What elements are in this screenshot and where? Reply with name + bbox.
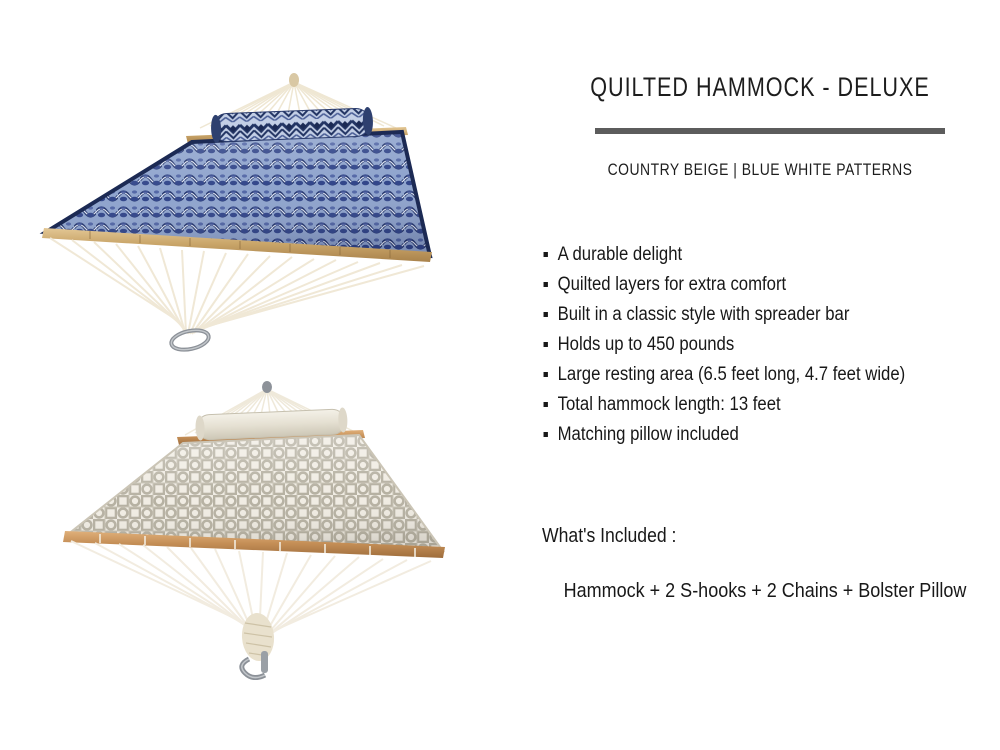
bullet-icon <box>544 402 548 407</box>
blue-hammock-illustration <box>30 60 490 360</box>
feature-text: Holds up to 450 pounds <box>558 334 735 355</box>
feature-text: Built in a classic style with spreader b… <box>558 304 850 325</box>
top-rope-knot <box>289 73 299 87</box>
beige-hammock-illustration <box>45 375 500 680</box>
list-item: Total hammock length: 13 feet <box>540 390 954 420</box>
title-divider <box>595 128 945 134</box>
list-item: Built in a classic style with spreader b… <box>540 300 954 330</box>
included-label: What's Included : <box>542 525 676 548</box>
bullet-icon <box>544 372 548 377</box>
list-item: Large resting area (6.5 feet long, 4.7 f… <box>540 360 954 390</box>
product-image-panel <box>0 0 520 750</box>
top-hook <box>262 381 272 393</box>
product-subtitle: COUNTRY BEIGE | BLUE WHITE PATTERNS <box>563 160 957 180</box>
feature-text: Quilted layers for extra comfort <box>558 274 787 295</box>
product-info-panel: QUILTED HAMMOCK - DELUXE COUNTRY BEIGE |… <box>520 0 1000 750</box>
s-hook <box>170 327 211 353</box>
blue-hammock-image <box>30 60 490 360</box>
feature-text: Total hammock length: 13 feet <box>558 394 781 415</box>
bullet-icon <box>544 432 548 437</box>
feature-text: Large resting area (6.5 feet long, 4.7 f… <box>558 364 906 385</box>
list-item: Matching pillow included <box>540 420 954 450</box>
bullet-icon <box>544 252 548 257</box>
feature-text: A durable delight <box>558 244 683 265</box>
feature-text: Matching pillow included <box>558 424 739 445</box>
list-item: Quilted layers for extra comfort <box>540 270 954 300</box>
feature-list: A durable delight Quilted layers for ext… <box>540 240 1000 450</box>
beige-hammock-image <box>45 375 500 680</box>
page-title: QUILTED HAMMOCK - DELUXE <box>568 72 952 103</box>
bullet-icon <box>544 282 548 287</box>
bullet-icon <box>544 312 548 317</box>
included-items: Hammock + 2 S-hooks + 2 Chains + Bolster… <box>563 575 968 607</box>
list-item: A durable delight <box>540 240 954 270</box>
product-listing-page: QUILTED HAMMOCK - DELUXE COUNTRY BEIGE |… <box>0 0 1000 750</box>
list-item: Holds up to 450 pounds <box>540 330 954 360</box>
bullet-icon <box>544 342 548 347</box>
